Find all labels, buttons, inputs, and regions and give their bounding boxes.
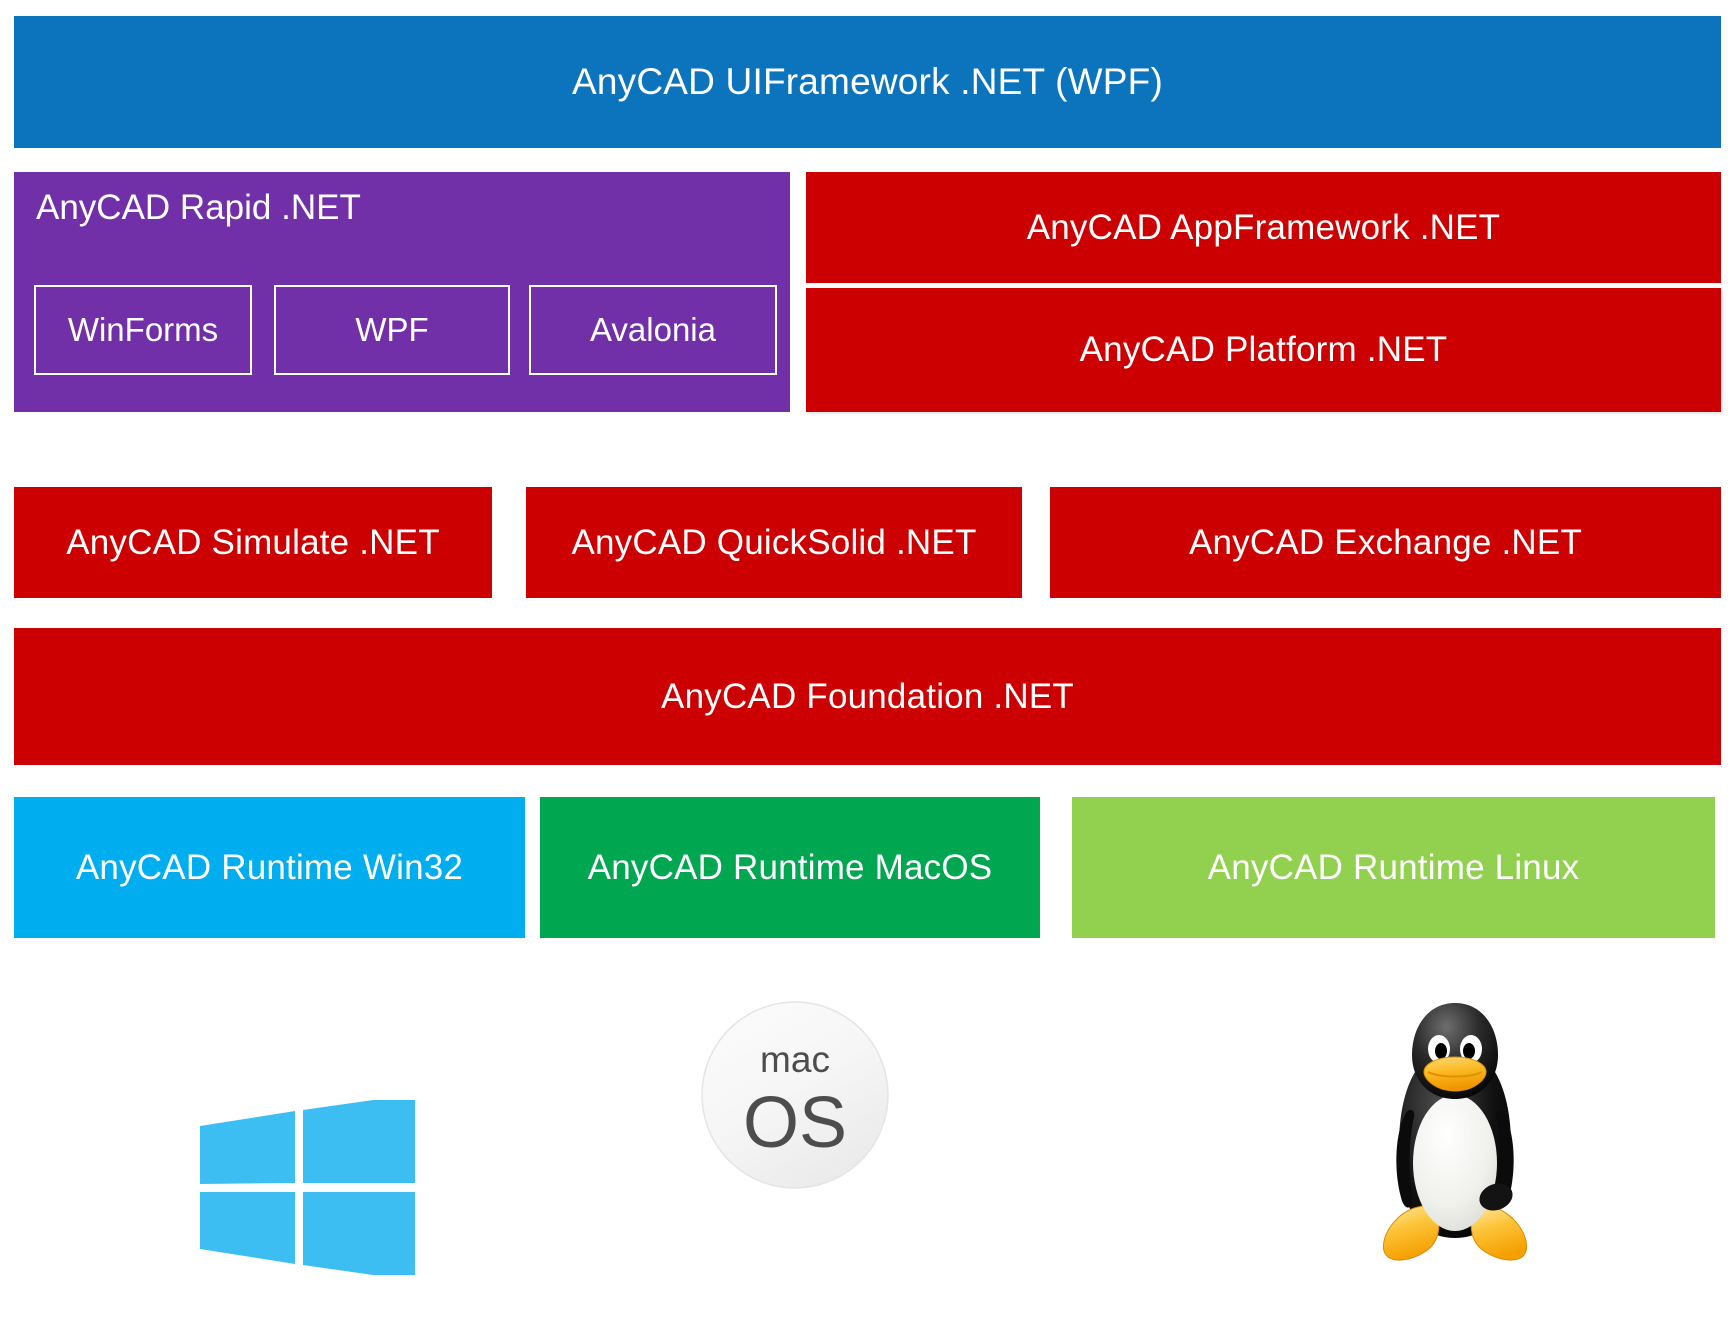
layer-foundation: AnyCAD Foundation .NET [14, 628, 1721, 765]
rapid-sub-box-wpf: WPF [274, 285, 510, 375]
macos-logo-text-top: mac [760, 1039, 830, 1080]
layer-rapid: AnyCAD Rapid .NET WinForms WPF Avalonia [14, 172, 790, 412]
layer-module-exchange-label: AnyCAD Exchange .NET [1050, 523, 1721, 563]
layer-runtime-linux: AnyCAD Runtime Linux [1072, 797, 1715, 938]
layer-runtime-linux-label: AnyCAD Runtime Linux [1072, 848, 1715, 888]
layer-platform: AnyCAD Platform .NET [806, 288, 1721, 412]
macos-logo-text-bottom: OS [743, 1083, 847, 1163]
layer-runtime-win32-label: AnyCAD Runtime Win32 [14, 848, 525, 888]
rapid-sub-box-avalonia-label: Avalonia [590, 311, 716, 349]
layer-module-simulate-label: AnyCAD Simulate .NET [14, 523, 492, 563]
macos-logo: mac OS [700, 1000, 890, 1190]
layer-foundation-label: AnyCAD Foundation .NET [14, 677, 1721, 717]
rapid-sub-box-avalonia: Avalonia [529, 285, 777, 375]
layer-ui-framework: AnyCAD UIFramework .NET (WPF) [14, 16, 1721, 148]
layer-runtime-win32: AnyCAD Runtime Win32 [14, 797, 525, 938]
layer-ui-framework-label: AnyCAD UIFramework .NET (WPF) [14, 61, 1721, 103]
rapid-sub-box-wpf-label: WPF [355, 311, 428, 349]
layer-module-simulate: AnyCAD Simulate .NET [14, 487, 492, 598]
rapid-sub-box-winforms: WinForms [34, 285, 252, 375]
os-logo-row: mac OS [0, 975, 1736, 1305]
layer-module-exchange: AnyCAD Exchange .NET [1050, 487, 1721, 598]
architecture-diagram: AnyCAD UIFramework .NET (WPF) AnyCAD Rap… [0, 0, 1736, 1328]
layer-rapid-label: AnyCAD Rapid .NET [36, 188, 361, 228]
layer-app-framework: AnyCAD AppFramework .NET [806, 172, 1721, 283]
layer-runtime-macos-label: AnyCAD Runtime MacOS [540, 848, 1040, 888]
rapid-sub-box-winforms-label: WinForms [68, 311, 218, 349]
layer-module-quicksolid-label: AnyCAD QuickSolid .NET [526, 523, 1022, 563]
layer-module-quicksolid: AnyCAD QuickSolid .NET [526, 487, 1022, 598]
layer-platform-label: AnyCAD Platform .NET [806, 330, 1721, 370]
layer-app-framework-label: AnyCAD AppFramework .NET [806, 208, 1721, 248]
layer-runtime-macos: AnyCAD Runtime MacOS [540, 797, 1040, 938]
windows-logo [200, 1100, 415, 1275]
linux-logo [1378, 995, 1533, 1265]
